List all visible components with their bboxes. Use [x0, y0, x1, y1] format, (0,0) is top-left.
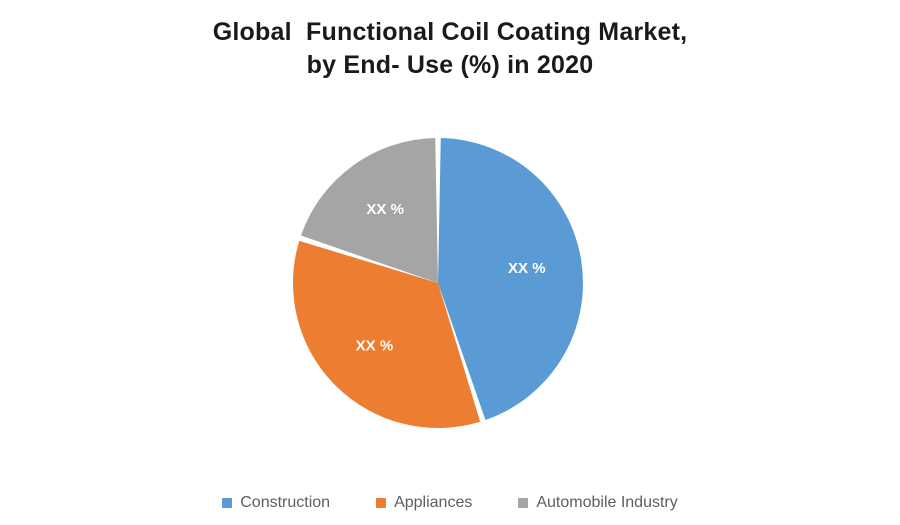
pie-slice-label-appliances: XX % [356, 338, 394, 355]
legend-item-automobile-industry[interactable]: Automobile Industry [518, 495, 677, 511]
chart-legend: Construction Appliances Automobile Indus… [0, 495, 900, 511]
legend-item-construction[interactable]: Construction [222, 495, 330, 511]
legend-swatch-icon-appliances [376, 498, 386, 508]
legend-label-appliances: Appliances [394, 495, 472, 511]
legend-label-construction: Construction [240, 495, 330, 511]
chart-title-line-2: by End- Use (%) in 2020 [0, 49, 900, 82]
pie-svg: XX % XX % XX % [280, 120, 620, 450]
pie-slice-label-construction: XX % [508, 260, 546, 277]
pie-chart-card: Global Functional Coil Coating Market, b… [0, 0, 900, 525]
chart-title: Global Functional Coil Coating Market, b… [0, 16, 900, 82]
pie-slices [293, 138, 583, 428]
legend-label-automobile-industry: Automobile Industry [536, 495, 677, 511]
legend-item-appliances[interactable]: Appliances [376, 495, 472, 511]
chart-title-line-1: Global Functional Coil Coating Market, [0, 16, 900, 49]
pie-slice-label-automobile-industry: XX % [366, 201, 404, 218]
plot-area: XX % XX % XX % [0, 120, 900, 450]
chart-title-line-2-text: by End- Use (%) in [307, 51, 537, 79]
chart-title-year: 2020 [537, 51, 593, 79]
legend-swatch-icon-automobile-industry [518, 498, 528, 508]
legend-swatch-icon-construction [222, 498, 232, 508]
